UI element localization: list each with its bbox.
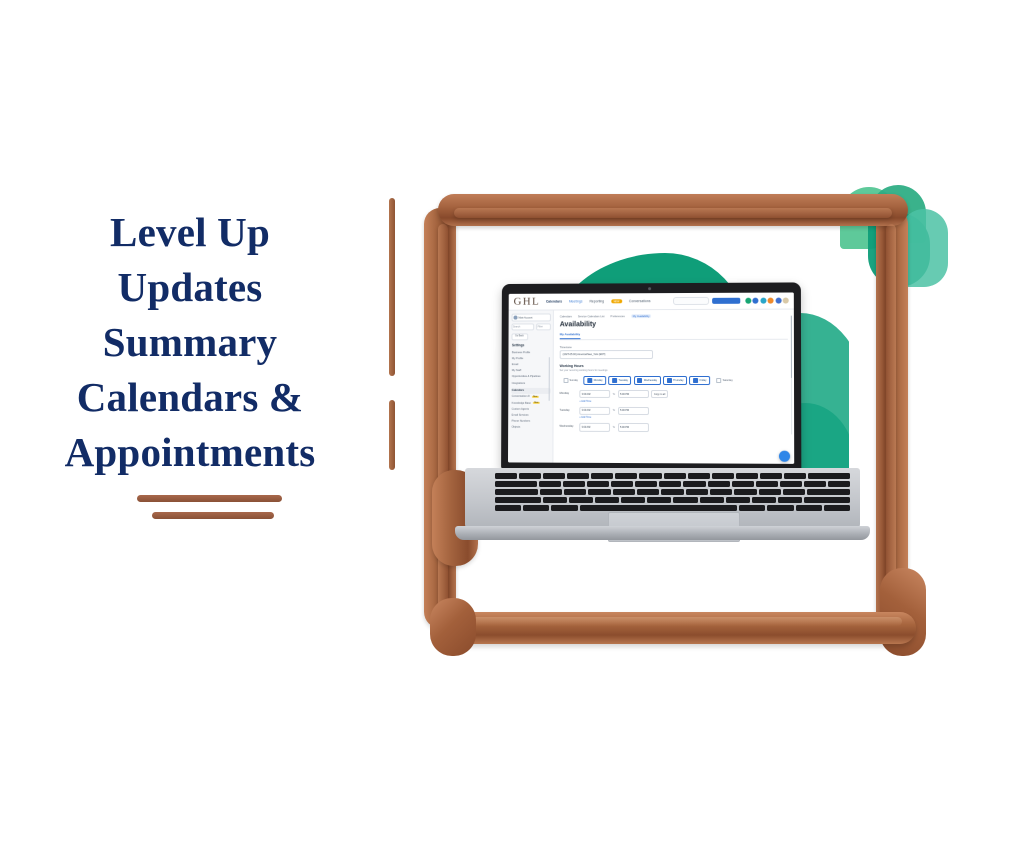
tab-my-availability[interactable]: My Availability [560, 332, 580, 339]
account-name: Main Account [518, 316, 532, 319]
day-label: Sunday [569, 379, 577, 382]
headline-line-1: Level Up [0, 205, 380, 260]
sidebar-item-label: Integrations [512, 381, 525, 384]
day-label: Thursday [673, 379, 683, 382]
day-toggle-sunday[interactable]: Sunday [560, 376, 582, 385]
from-time-select-monday[interactable]: 9:00 AM [579, 390, 610, 399]
tab-bar: My Availability [560, 332, 788, 340]
to-time-select-tuesday[interactable]: 5:00 PM [618, 407, 649, 416]
sidebar-section-title: Settings [512, 343, 550, 347]
global-search-input[interactable] [673, 297, 709, 305]
day-label: Friday [700, 379, 707, 382]
breadcrumb-preferences[interactable]: Preferences [610, 315, 624, 318]
from-time-select-wednesday[interactable]: 9:00 AM [579, 423, 610, 432]
app-body: Main Account Search Filter Go Back Setti… [508, 310, 794, 464]
accent-bar-long [389, 198, 395, 376]
header-dot-4[interactable] [768, 298, 774, 304]
day-label: Tuesday [618, 379, 627, 382]
top-navigation: Calendars Meetings Reporting NEW Convers… [546, 299, 651, 303]
headline-line-5: Appointments [0, 425, 380, 480]
from-time-select-tuesday[interactable]: 9:00 AM [579, 406, 610, 415]
keyboard [495, 473, 850, 510]
to-label: To [613, 426, 616, 429]
new-badge: New [532, 395, 539, 398]
to-label: To [613, 393, 616, 396]
primary-action-button[interactable] [712, 298, 740, 304]
checkbox-icon [587, 378, 592, 383]
title-underline-long [137, 495, 282, 502]
sidebar-item-label: Objects [512, 426, 521, 429]
header-dot-3[interactable] [760, 298, 766, 304]
go-back-button[interactable]: Go Back [511, 333, 528, 340]
to-time-select-wednesday[interactable]: 5:00 PM [618, 423, 649, 432]
hours-row-tuesday: Tuesday 9:00 AM To 5:00 PM + Add Time [559, 406, 788, 422]
breadcrumb-my-availability[interactable]: My Availability [631, 314, 652, 318]
wood-frame-bottom [430, 598, 928, 658]
hours-row-wednesday: Wednesday 9:00 AM To 5:00 PM [559, 423, 788, 432]
main-scrollbar[interactable] [790, 316, 792, 435]
nav-item-calendars[interactable]: Calendars [546, 300, 562, 304]
sidebar-item-label: My Staff [512, 369, 521, 372]
day-label: Monday [594, 379, 603, 382]
chat-widget-button[interactable] [779, 451, 790, 462]
day-toggle-monday[interactable]: Monday [584, 376, 606, 385]
checkbox-icon [563, 378, 568, 383]
day-toggle-thursday[interactable]: Thursday [663, 376, 687, 385]
hours-row-day-label: Wednesday [559, 423, 575, 428]
laptop-screen: GHL Calendars Meetings Reporting NEW Con… [508, 292, 794, 463]
laptop-front-edge [455, 526, 870, 540]
hours-row-day-label: Monday [560, 390, 576, 395]
sidebar-item-label: Business Profile [512, 351, 530, 354]
sidebar-item-label: Email [512, 363, 518, 366]
to-label: To [613, 409, 616, 412]
webcam-icon [648, 287, 651, 290]
ghl-app: GHL Calendars Meetings Reporting NEW Con… [508, 292, 794, 463]
sidebar-item-integrations[interactable]: Integrations [511, 380, 550, 386]
sidebar-item-label: Phone Numbers [512, 420, 530, 423]
headline-line-2: Updates [0, 260, 380, 315]
sidebar: Main Account Search Filter Go Back Setti… [508, 310, 554, 463]
header-dot-1[interactable] [745, 298, 751, 304]
hours-row-day-label: Tuesday [559, 406, 575, 411]
day-label: Saturday [723, 379, 733, 382]
header-icon-group [745, 298, 789, 304]
checkbox-icon [667, 378, 672, 383]
checkbox-icon [716, 378, 721, 383]
working-hours-subtitle: Set your recurring working hours for mee… [560, 369, 788, 372]
breadcrumb-calendars[interactable]: Calendars [560, 315, 572, 318]
headline-line-3: Summary [0, 315, 380, 370]
account-avatar-icon [514, 316, 517, 319]
nav-new-badge: NEW [611, 299, 622, 303]
sidebar-item-label: My Profile [512, 357, 523, 360]
sidebar-item-label: Custom Agents [512, 408, 529, 411]
app-header: GHL Calendars Meetings Reporting NEW Con… [509, 292, 794, 310]
timezone-select[interactable]: (GMT-05:00) America/New_York (EDT) [560, 350, 653, 359]
add-time-link-tuesday[interactable]: + Add Time [579, 416, 788, 420]
checkbox-icon [637, 378, 642, 383]
new-badge: New [533, 402, 540, 405]
nav-item-reporting[interactable]: Reporting [589, 299, 604, 303]
laptop-deck [465, 468, 860, 530]
day-toggle-saturday[interactable]: Saturday [713, 376, 737, 385]
day-toggle-row: Sunday Monday Tuesday Wednesday Thursday… [560, 376, 788, 385]
working-hours-title: Working Hours [560, 364, 788, 368]
day-toggle-friday[interactable]: Friday [690, 376, 711, 385]
sidebar-item-objects[interactable]: Objects [511, 424, 550, 430]
account-switcher[interactable]: Main Account [511, 313, 550, 321]
sidebar-nav: Business Profile My Profile Email My Sta… [511, 349, 551, 430]
timezone-label: Timezone [560, 344, 788, 348]
main-content: Calendars Service Calendars List Prefere… [553, 310, 794, 464]
sidebar-search-row: Search Filter [511, 323, 550, 330]
breadcrumb-service-calendars[interactable]: Service Calendars List [578, 315, 605, 318]
day-label: Wednesday [644, 379, 657, 382]
day-toggle-tuesday[interactable]: Tuesday [609, 376, 632, 385]
header-dot-5[interactable] [775, 298, 781, 304]
sidebar-scrollbar[interactable] [548, 357, 549, 401]
sidebar-item-label: Calendars [512, 389, 524, 392]
nav-item-conversations[interactable]: Conversations [629, 299, 651, 303]
copy-to-all-button[interactable]: Copy to all [651, 390, 668, 399]
sidebar-item-label: Conversation AI [512, 395, 530, 398]
sidebar-item-label: Knowledge Base [512, 401, 531, 404]
accent-bar-short [389, 400, 395, 470]
ghl-logo: GHL [514, 296, 540, 307]
to-time-select-monday[interactable]: 5:00 PM [618, 390, 649, 399]
day-toggle-wednesday[interactable]: Wednesday [634, 376, 661, 385]
breadcrumb: Calendars Service Calendars List Prefere… [560, 314, 788, 319]
sidebar-item-label: Email Services [512, 414, 529, 417]
poster-canvas: Level Up Updates Summary Calendars & App… [0, 0, 1024, 853]
laptop-base [455, 468, 870, 548]
laptop-mockup: GHL Calendars Meetings Reporting NEW Con… [455, 283, 870, 578]
checkbox-icon [612, 378, 617, 383]
page-title: Level Up Updates Summary Calendars & App… [0, 205, 380, 480]
header-dot-2[interactable] [752, 298, 758, 304]
sidebar-filter-button[interactable]: Filter [536, 323, 551, 330]
sidebar-item-label: Opportunities & Pipelines [512, 375, 541, 378]
hours-row-monday: Monday 9:00 AM To 5:00 PM Copy to all + … [560, 390, 788, 406]
sidebar-search-input[interactable]: Search [511, 323, 534, 330]
avatar[interactable] [783, 298, 789, 304]
checkbox-icon [693, 378, 698, 383]
laptop-lid: GHL Calendars Meetings Reporting NEW Con… [501, 282, 801, 471]
title-underline-short [152, 512, 274, 519]
headline-line-4: Calendars & [0, 370, 380, 425]
add-time-link-monday[interactable]: + Add Time [579, 399, 788, 402]
content-title: Availability [560, 321, 788, 329]
header-actions [673, 297, 789, 306]
nav-item-meetings[interactable]: Meetings [569, 299, 583, 303]
